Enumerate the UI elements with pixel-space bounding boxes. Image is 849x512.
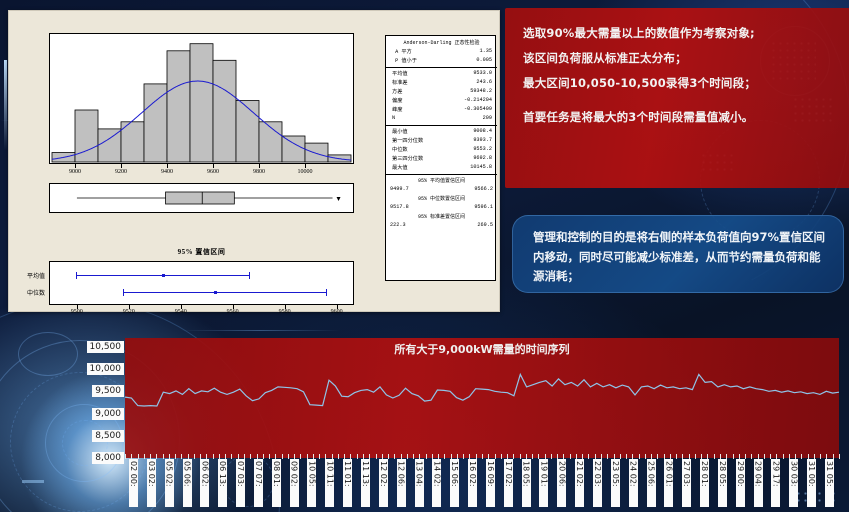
x-axis-tick: [814, 454, 815, 459]
x-axis-label: 28 01:: [700, 459, 709, 507]
x-axis-tick: [607, 454, 608, 459]
x-axis-label: 06 13:: [218, 459, 227, 507]
ci-point: [162, 274, 165, 277]
x-axis-tick: [325, 454, 326, 459]
histogram-bar: [282, 136, 305, 162]
histogram-bar: [75, 110, 98, 162]
x-axis-label: 28 05:: [718, 459, 727, 507]
histogram-bar: [98, 129, 121, 162]
x-axis-tick: [551, 454, 552, 459]
x-axis-label: 10 05:: [307, 459, 316, 507]
x-axis-tick: [463, 454, 464, 459]
x-axis-tick: [588, 454, 589, 459]
axis-tick-label: 9520: [118, 309, 140, 315]
axis-tick-label: 9800: [249, 169, 269, 175]
stats-row: 第三四分位数9692.8: [386, 155, 497, 164]
x-axis-label: 09 02:: [290, 459, 299, 507]
y-axis-label: 9,000: [92, 408, 124, 420]
decorative-bar-1: [4, 60, 7, 150]
axis-tick-label: 9600: [326, 309, 348, 315]
x-axis-tick: [150, 454, 151, 459]
x-axis-tick: [263, 454, 264, 459]
red-callout-box: 选取90%最大需量以上的数值作为考察对象;该区间负荷服从标准正太分布；最大区间1…: [505, 8, 849, 188]
x-axis-tick: [676, 454, 677, 459]
stats-row: 偏度-0.214204: [386, 97, 497, 106]
ci-cap: [249, 272, 250, 279]
x-axis-tick: [363, 454, 364, 459]
histogram-chart: [49, 33, 354, 164]
x-axis-tick: [808, 454, 809, 459]
axis-tick-label: 9560: [222, 309, 244, 315]
x-axis-tick: [707, 454, 708, 459]
stats-row: Anderson-Darling 正态性检验: [386, 39, 497, 48]
x-axis-tick: [563, 454, 564, 459]
x-axis-tick: [645, 454, 646, 459]
x-axis-label: 10 11:: [325, 459, 334, 507]
x-axis-tick: [833, 454, 834, 459]
x-axis-label: 02 00:: [129, 459, 138, 507]
x-axis-label: 29 00:: [736, 459, 745, 507]
decorative-bar-2: [22, 480, 44, 483]
x-axis-tick: [382, 454, 383, 459]
x-axis-tick: [720, 454, 721, 459]
stats-row: 95% 平均值置信区间: [386, 177, 497, 186]
ci-cap: [326, 289, 327, 296]
x-axis-tick: [501, 454, 502, 459]
stats-row: P 值小于0.005: [386, 57, 497, 66]
axis-tick-label: 9580: [274, 309, 296, 315]
stats-row: 最小值9008.4: [386, 128, 497, 137]
x-axis-tick: [169, 454, 170, 459]
x-axis-label: 30 03:: [789, 459, 798, 507]
x-axis-tick: [689, 454, 690, 459]
axis-tick-label: 9000: [65, 169, 85, 175]
x-axis-tick: [595, 454, 596, 459]
x-axis-tick: [206, 454, 207, 459]
x-axis-tick: [538, 454, 539, 459]
x-axis-tick: [451, 454, 452, 459]
ci-cap: [123, 289, 124, 296]
stats-row: 标准差243.6: [386, 79, 497, 88]
x-axis-tick: [820, 454, 821, 459]
x-axis-tick: [714, 454, 715, 459]
x-axis-tick: [751, 454, 752, 459]
x-axis-tick: [438, 454, 439, 459]
x-axis-tick: [338, 454, 339, 459]
axis-tick: [75, 164, 76, 168]
stats-divider: [386, 174, 497, 175]
x-axis-tick: [557, 454, 558, 459]
x-axis-tick: [626, 454, 627, 459]
timeseries-x-axis: 02 00:03 02:05 02:05 06:06 02:06 13:07 0…: [125, 459, 839, 512]
stats-row: 峰度-0.305409: [386, 106, 497, 115]
x-axis-tick: [175, 454, 176, 459]
x-axis-tick: [657, 454, 658, 459]
x-axis-label: 12 06:: [397, 459, 406, 507]
stats-divider: [386, 67, 497, 68]
x-axis-tick: [332, 454, 333, 459]
x-axis-tick: [545, 454, 546, 459]
x-axis-tick: [250, 454, 251, 459]
stats-row: 9517.89596.1: [386, 204, 497, 213]
histogram-bar: [236, 101, 259, 163]
x-axis-tick: [269, 454, 270, 459]
x-axis-tick: [144, 454, 145, 459]
x-axis-label: 11 01:: [343, 459, 352, 507]
x-axis-label: 07 03:: [236, 459, 245, 507]
x-axis-tick: [764, 454, 765, 459]
x-axis-tick: [570, 454, 571, 459]
decorative-streak-2: [180, 330, 340, 331]
minitab-graphical-summary-panel: 9000920094009600980010000 95% 置信区间 平均值中位…: [8, 10, 500, 312]
x-axis-tick: [419, 454, 420, 459]
ci-row-label: 平均值: [11, 271, 45, 280]
x-axis-tick: [795, 454, 796, 459]
axis-tick-label: 9540: [170, 309, 192, 315]
histogram-bar: [144, 84, 167, 162]
x-axis-label: 12 02:: [379, 459, 388, 507]
x-axis-tick: [614, 454, 615, 459]
x-axis-tick: [188, 454, 189, 459]
x-axis-tick: [770, 454, 771, 459]
x-axis-tick: [350, 454, 351, 459]
ci-row-label: 中位数: [11, 288, 45, 297]
x-axis-tick: [401, 454, 402, 459]
axis-tick: [259, 164, 260, 168]
x-axis-tick: [394, 454, 395, 459]
timeseries-title: 所有大于9,000kW需量的时间序列: [125, 341, 839, 357]
x-axis-label: 31 05:: [825, 459, 834, 507]
x-axis-tick: [194, 454, 195, 459]
axis-tick: [167, 164, 168, 168]
stats-row: N209: [386, 115, 497, 124]
x-axis-tick: [300, 454, 301, 459]
x-axis-label: 19 01:: [539, 459, 548, 507]
axis-tick-label: 9600: [203, 169, 223, 175]
x-axis-tick: [213, 454, 214, 459]
x-axis-tick: [413, 454, 414, 459]
x-axis-label: 31 00:: [807, 459, 816, 507]
x-axis-tick: [733, 454, 734, 459]
timeseries-y-axis: 10,50010,0009,5009,0008,5008,000: [78, 330, 124, 470]
histogram-bar: [190, 44, 213, 162]
x-axis-label: 11 13:: [361, 459, 370, 507]
x-axis-tick: [294, 454, 295, 459]
slide-canvas: 9000920094009600980010000 95% 置信区间 平均值中位…: [0, 0, 849, 512]
x-axis-tick: [125, 454, 126, 459]
axis-tick: [121, 164, 122, 168]
x-axis-label: 25 06:: [647, 459, 656, 507]
ci-chart-title: 95% 置信区间: [49, 247, 354, 257]
stats-row: 平均值9533.0: [386, 70, 497, 79]
x-axis-tick: [407, 454, 408, 459]
ci-interval-line: [123, 292, 326, 293]
x-axis-tick: [526, 454, 527, 459]
x-axis-tick: [275, 454, 276, 459]
x-axis-tick: [426, 454, 427, 459]
axis-tick-label: 9400: [157, 169, 177, 175]
x-axis-tick: [238, 454, 239, 459]
x-axis-tick: [695, 454, 696, 459]
x-axis-label: 16 09:: [486, 459, 495, 507]
x-axis-label: 06 02:: [200, 459, 209, 507]
x-axis-tick: [181, 454, 182, 459]
ci-point: [214, 291, 217, 294]
red-callout-line: 该区间负荷服从标准正太分布；: [523, 47, 835, 70]
stats-row: 方差59348.2: [386, 88, 497, 97]
x-axis-label: 22 03:: [593, 459, 602, 507]
statistics-table: Anderson-Darling 正态性检验 A 平方1.35 P 值小于0.0…: [385, 35, 496, 281]
x-axis-tick: [156, 454, 157, 459]
ci-cap: [76, 272, 77, 279]
x-axis-tick: [801, 454, 802, 459]
stats-row: 中位数9553.2: [386, 146, 497, 155]
x-axis-tick: [601, 454, 602, 459]
x-axis-label: 23 05:: [611, 459, 620, 507]
x-axis-tick: [432, 454, 433, 459]
x-axis-label: 05 06:: [183, 459, 192, 507]
x-axis-tick: [200, 454, 201, 459]
x-axis-label: 18 05:: [522, 459, 531, 507]
x-axis-tick: [745, 454, 746, 459]
x-axis-tick: [495, 454, 496, 459]
x-axis-label: 21 02:: [575, 459, 584, 507]
x-axis-label: 03 02:: [147, 459, 156, 507]
x-axis-tick: [388, 454, 389, 459]
axis-tick-label: 9200: [111, 169, 131, 175]
axis-tick: [305, 164, 306, 168]
stats-row: 95% 中位数置信区间: [386, 195, 497, 204]
x-axis-tick: [758, 454, 759, 459]
x-axis-tick: [282, 454, 283, 459]
x-axis-tick: [231, 454, 232, 459]
x-axis-tick: [488, 454, 489, 459]
x-axis-tick: [357, 454, 358, 459]
x-axis-tick: [288, 454, 289, 459]
blue-callout-box: 管理和控制的目的是将右侧的样本负荷值向97%置信区间内移动，同时尽可能减少标准差…: [512, 215, 844, 293]
blue-callout-text: 管理和控制的目的是将右侧的样本负荷值向97%置信区间内移动，同时尽可能减少标准差…: [533, 228, 827, 287]
x-axis-tick: [219, 454, 220, 459]
x-axis-label: 24 02:: [629, 459, 638, 507]
x-axis-tick: [651, 454, 652, 459]
x-axis-tick: [476, 454, 477, 459]
x-axis-tick: [776, 454, 777, 459]
stats-row: 第一四分位数9393.7: [386, 137, 497, 146]
x-axis-label: 26 01:: [664, 459, 673, 507]
x-axis-label: 20 06:: [557, 459, 566, 507]
x-axis-tick: [444, 454, 445, 459]
x-axis-tick: [520, 454, 521, 459]
y-axis-label: 10,000: [87, 363, 125, 375]
red-callout-line: 选取90%最大需量以上的数值作为考察对象;: [523, 22, 835, 45]
x-axis-tick: [620, 454, 621, 459]
red-callout-text: 选取90%最大需量以上的数值作为考察对象;该区间负荷服从标准正太分布；最大区间1…: [523, 22, 835, 131]
boxplot-svg: [50, 184, 353, 212]
y-axis-label: 8,500: [92, 430, 124, 442]
x-axis-tick: [639, 454, 640, 459]
x-axis-label: 27 03:: [682, 459, 691, 507]
stats-row: A 平方1.35: [386, 48, 497, 57]
x-axis-tick: [307, 454, 308, 459]
stats-row: 9499.79566.2: [386, 186, 497, 195]
stats-divider: [386, 125, 497, 126]
x-axis-tick: [313, 454, 314, 459]
x-axis-label: 29 04:: [754, 459, 763, 507]
x-axis-tick: [469, 454, 470, 459]
red-callout-line: 最大区间10,050-10,500录得3个时间段；: [523, 72, 835, 95]
histogram-bar: [213, 60, 236, 162]
x-axis-tick: [457, 454, 458, 459]
boxplot-box: [166, 192, 235, 204]
x-axis-tick: [701, 454, 702, 459]
x-axis-tick: [839, 454, 840, 459]
histogram-bar: [167, 51, 190, 162]
x-axis-tick: [482, 454, 483, 459]
x-axis-tick: [739, 454, 740, 459]
stats-row: 95% 标准差置信区间: [386, 213, 497, 222]
x-axis-tick: [376, 454, 377, 459]
histogram-bar: [305, 143, 328, 162]
axis-tick-label: 10000: [295, 169, 315, 175]
y-axis-label: 9,500: [92, 385, 124, 397]
x-axis-tick: [532, 454, 533, 459]
x-axis-tick: [664, 454, 665, 459]
x-axis-tick: [789, 454, 790, 459]
y-axis-label: 8,000: [92, 452, 124, 464]
x-axis-tick: [632, 454, 633, 459]
x-axis-tick: [783, 454, 784, 459]
x-axis-tick: [513, 454, 514, 459]
x-axis-label: 13 04:: [415, 459, 424, 507]
x-axis-tick: [131, 454, 132, 459]
x-axis-tick: [670, 454, 671, 459]
x-axis-tick: [257, 454, 258, 459]
x-axis-tick: [682, 454, 683, 459]
x-axis-label: 14 02:: [432, 459, 441, 507]
axis-tick-label: 9500: [66, 309, 88, 315]
histogram-svg: [50, 34, 353, 163]
x-axis-tick: [244, 454, 245, 459]
x-axis-label: 17 02:: [504, 459, 513, 507]
x-axis-tick: [576, 454, 577, 459]
x-axis-tick: [726, 454, 727, 459]
x-axis-tick: [225, 454, 226, 459]
x-axis-label: 29 17:: [771, 459, 780, 507]
x-axis-tick: [507, 454, 508, 459]
x-axis-tick: [826, 454, 827, 459]
stats-row: 222.3269.5: [386, 222, 497, 231]
stats-row: 最大值10145.8: [386, 164, 497, 173]
x-axis-label: 05 02:: [165, 459, 174, 507]
axis-tick: [213, 164, 214, 168]
x-axis-tick: [319, 454, 320, 459]
x-axis-label: 15 06:: [450, 459, 459, 507]
x-axis-tick: [163, 454, 164, 459]
x-axis-label: 07 07:: [254, 459, 263, 507]
x-axis-tick: [582, 454, 583, 459]
x-axis-label: 08 01:: [272, 459, 281, 507]
x-axis-tick: [138, 454, 139, 459]
boxplot-chart: [49, 183, 354, 213]
x-axis-label: 16 02:: [468, 459, 477, 507]
confidence-interval-chart: [49, 261, 354, 305]
red-callout-line: 首要任务是将最大的3个时间段需量值减小。: [523, 106, 835, 129]
x-axis-tick: [344, 454, 345, 459]
decorative-ring-5: [18, 332, 78, 376]
boxplot-outlier: [337, 197, 341, 201]
x-axis-tick: [369, 454, 370, 459]
y-axis-label: 10,500: [87, 341, 125, 353]
